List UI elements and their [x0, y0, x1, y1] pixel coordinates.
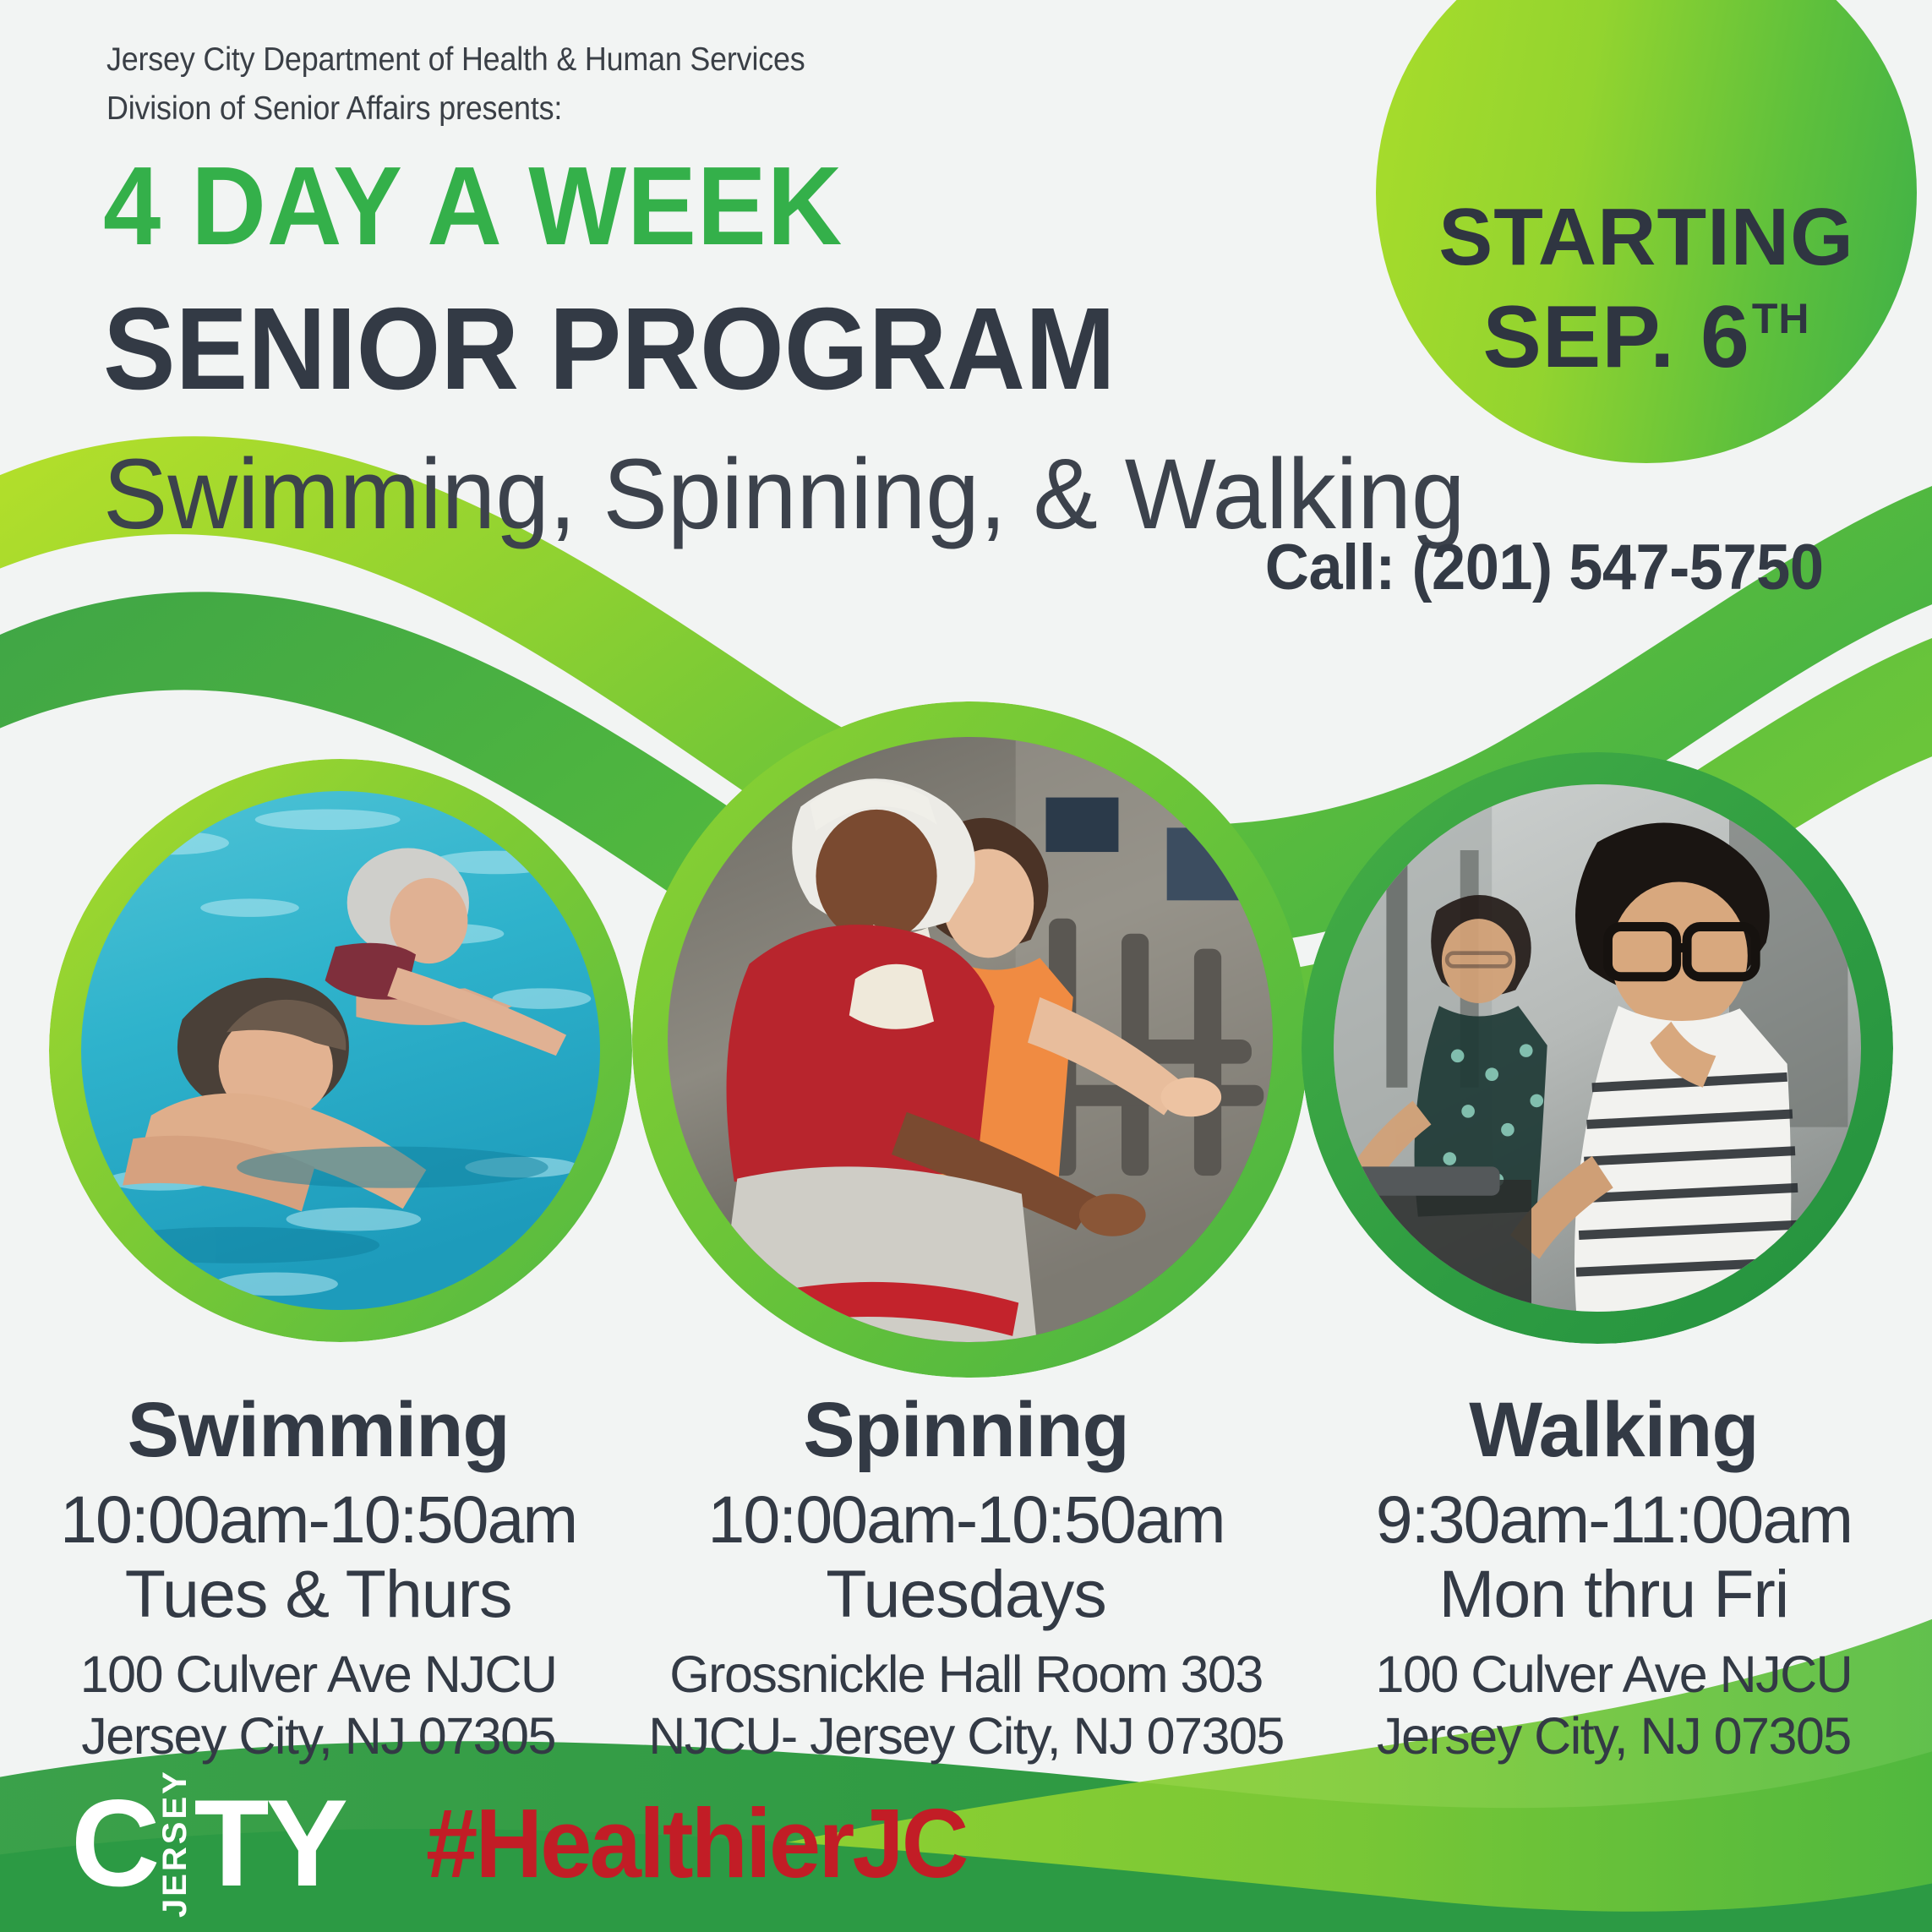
program-columns: Swimming 10:00am-10:50am Tues & Thurs 10…: [0, 1391, 1932, 1767]
logo-letters-ty: TY: [194, 1793, 345, 1894]
program-name: Spinning: [648, 1391, 1284, 1469]
photo-circle-walking: [1302, 752, 1893, 1344]
photo-circle-spinning: [632, 701, 1308, 1378]
photo-spinning: [668, 737, 1273, 1342]
title-program: SENIOR PROGRAM: [103, 291, 1409, 407]
phone-number[interactable]: Call: (201) 547-5750: [1265, 531, 1824, 604]
program-address-line1: 100 Culver Ave NJCU: [12, 1644, 625, 1706]
title-frequency: 4 DAY A WEEK: [103, 150, 1409, 262]
program-time: 9:30am-11:00am: [1307, 1482, 1920, 1557]
program-name: Swimming: [12, 1391, 625, 1469]
program-address-line1: Grossnickle Hall Room 303: [648, 1644, 1284, 1706]
program-days: Tues & Thurs: [12, 1557, 625, 1631]
department-kicker: Jersey City Department of Health & Human…: [106, 35, 805, 133]
kicker-line-2: Division of Senior Affairs presents:: [106, 85, 805, 134]
badge-line-date: SEP. 6TH: [1483, 292, 1810, 382]
program-days: Mon thru Fri: [1307, 1557, 1920, 1631]
hashtag-healthierjc: #HealthierJC: [426, 1794, 967, 1892]
program-time: 10:00am-10:50am: [12, 1482, 625, 1557]
title-activities: Swimming, Spinning, & Walking: [103, 445, 1465, 544]
program-days: Tuesdays: [648, 1557, 1284, 1631]
photo-circle-swimming: [49, 759, 632, 1342]
logo-letter-c: C: [71, 1793, 156, 1894]
program-column-swimming: Swimming 10:00am-10:50am Tues & Thurs 10…: [0, 1391, 636, 1767]
flyer-poster: STARTING SEP. 6TH Jersey City Department…: [0, 0, 1932, 1932]
page-title: 4 DAY A WEEK SENIOR PROGRAM Swimming, Sp…: [103, 150, 1507, 544]
badge-date-ordinal: TH: [1752, 297, 1810, 340]
photo-walking: [1334, 784, 1861, 1312]
jersey-city-logo: C JERSEY TY: [71, 1784, 345, 1902]
badge-date-text: SEP. 6: [1483, 292, 1750, 382]
program-time: 10:00am-10:50am: [648, 1482, 1284, 1557]
photo-swimming: [81, 791, 600, 1310]
footer-bar: C JERSEY TY #HealthierJC: [0, 1755, 1932, 1932]
logo-word-jersey: JERSEY: [158, 1786, 192, 1901]
program-column-walking: Walking 9:30am-11:00am Mon thru Fri 100 …: [1296, 1391, 1932, 1767]
program-name: Walking: [1307, 1391, 1920, 1469]
program-column-spinning: Spinning 10:00am-10:50am Tuesdays Grossn…: [636, 1391, 1296, 1767]
kicker-line-1: Jersey City Department of Health & Human…: [106, 35, 805, 85]
program-address-line1: 100 Culver Ave NJCU: [1307, 1644, 1920, 1706]
